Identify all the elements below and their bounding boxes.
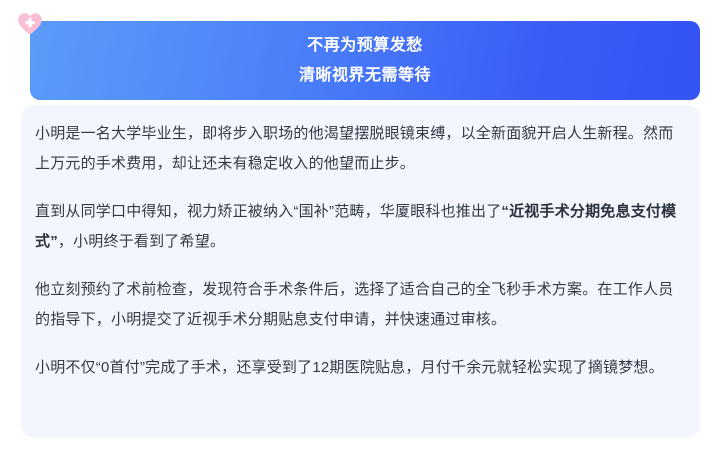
article-content-card: 小明是一名大学毕业生，即将步入职场的他渴望摆脱眼镜束缚，以全新面貌开启人生新程。… (21, 105, 700, 437)
body-text: 他立刻预约了术前检查，发现符合手术条件后，选择了适合自己的全飞秒手术方案。在工作… (35, 281, 673, 328)
article-paragraph: 小明不仅“0首付”完成了手术，还享受到了12期医院贴息，月付千余元就轻松实现了摘… (35, 353, 680, 383)
body-text: ，小明终于看到了希望。 (58, 233, 225, 250)
article-paragraph: 直到从同学口中得知，视力矫正被纳入“国补”范畴，华厦眼科也推出了“近视手术分期免… (35, 197, 680, 257)
body-text: 小明不仅“0首付”完成了手术，还享受到了12期医院贴息，月付千余元就轻松实现了摘… (35, 359, 664, 376)
article-paragraph: 小明是一名大学毕业生，即将步入职场的他渴望摆脱眼镜束缚，以全新面貌开启人生新程。… (35, 119, 680, 179)
body-text: 直到从同学口中得知，视力矫正被纳入“国补”范畴，华厦眼科也推出了 (35, 203, 501, 220)
article-paragraph: 他立刻预约了术前检查，发现符合手术条件后，选择了适合自己的全飞秒手术方案。在工作… (35, 275, 680, 335)
banner-headline-line-1: 不再为预算发愁 (307, 31, 423, 61)
promo-banner: 不再为预算发愁 清晰视界无需等待 (30, 21, 700, 100)
article-page: 不再为预算发愁 清晰视界无需等待 小明是一名大学毕业生，即将步入职场的他渴望摆脱… (0, 0, 722, 461)
heart-plus-icon (17, 12, 43, 36)
body-text: 小明是一名大学毕业生，即将步入职场的他渴望摆脱眼镜束缚，以全新面貌开启人生新程。… (35, 125, 673, 172)
banner-headline-line-2: 清晰视界无需等待 (299, 61, 431, 91)
